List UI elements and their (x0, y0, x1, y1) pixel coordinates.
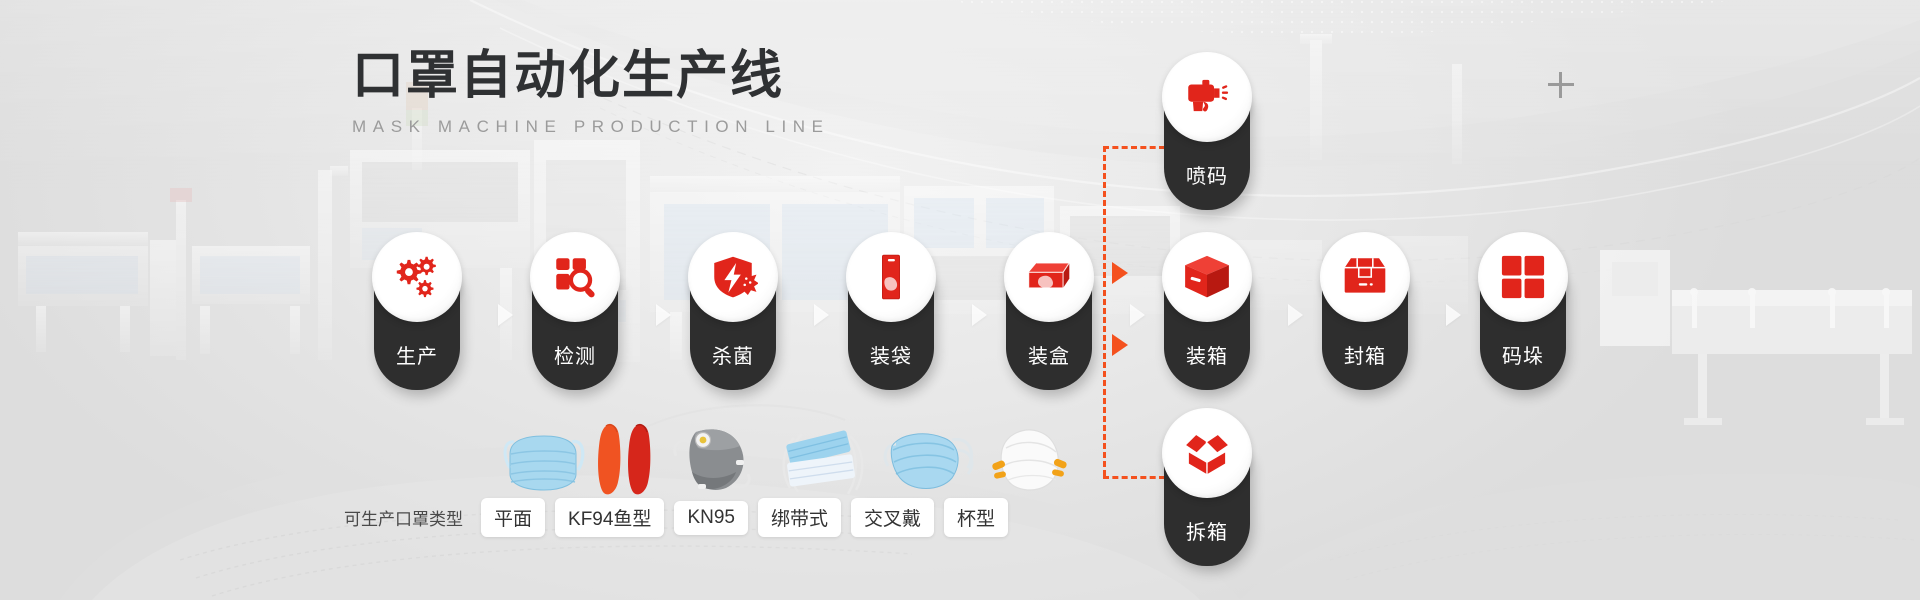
mask-thumb-cup (986, 420, 1072, 500)
mask-type-tag-kf94[interactable]: KF94鱼型 (555, 498, 664, 537)
shield-lightning-icon (708, 252, 758, 302)
node-icon-circle (530, 232, 620, 322)
branch-arrow-bottom (1112, 334, 1128, 356)
mask-type-tag-cup[interactable]: 杯型 (944, 498, 1008, 537)
mask-thumb-kf94 (592, 420, 662, 500)
node-label: 生产 (374, 340, 460, 369)
mask-type-tag-tie-on[interactable]: 绑带式 (758, 498, 841, 537)
node-label: 喷码 (1164, 160, 1250, 189)
mask-thumbnails-row (500, 418, 1030, 500)
node-icon-circle (1004, 232, 1094, 322)
flow-arrow-5 (1130, 304, 1145, 326)
mask-type-tag-flat[interactable]: 平面 (481, 498, 545, 537)
node-label: 装袋 (848, 340, 934, 369)
inspection-magnifier-icon (550, 252, 600, 302)
mask-type-tag-kn95[interactable]: KN95 (674, 501, 748, 535)
node-label: 检测 (532, 340, 618, 369)
branch-line-top-horizontal (1103, 146, 1165, 149)
page-title: 口罩自动化生产线 (352, 48, 830, 105)
banner-stage: 口罩自动化生产线 MASK MACHINE PRODUCTION LINE 生产 (0, 0, 1920, 600)
flow-arrow-4 (972, 304, 987, 326)
node-icon-circle (1320, 232, 1410, 322)
mask-thumb-flat (500, 420, 586, 500)
node-label: 封箱 (1322, 340, 1408, 369)
node-label: 杀菌 (690, 340, 776, 369)
node-icon-circle (372, 232, 462, 322)
open-box-icon (1182, 428, 1232, 478)
palletizing-grid-icon (1498, 252, 1548, 302)
header-block: 口罩自动化生产线 MASK MACHINE PRODUCTION LINE (352, 48, 830, 137)
flow-arrow-6 (1288, 304, 1303, 326)
node-label: 拆箱 (1164, 516, 1250, 545)
node-icon-circle (1162, 232, 1252, 322)
node-icon-circle (1478, 232, 1568, 322)
node-label: 码垛 (1480, 340, 1566, 369)
flow-arrow-1 (498, 304, 513, 326)
page-subtitle: MASK MACHINE PRODUCTION LINE (352, 117, 830, 137)
mask-type-tag-cross[interactable]: 交叉戴 (851, 498, 934, 537)
node-label: 装盒 (1006, 340, 1092, 369)
flow-arrow-7 (1446, 304, 1461, 326)
mask-thumb-kn95 (670, 420, 766, 500)
carton-box-icon (1024, 252, 1074, 302)
conveyor-silhouette (1600, 250, 1912, 425)
plus-crosshair-icon (1548, 72, 1574, 98)
gears-icon (392, 252, 442, 302)
node-label: 装箱 (1164, 340, 1250, 369)
mask-types-row: 可生产口罩类型 平面 KF94鱼型 KN95 绑带式 交叉戴 杯型 (344, 498, 1008, 537)
mask-thumb-cross-wear (882, 420, 978, 500)
mask-thumb-tie-on (774, 420, 874, 500)
branch-line-bottom-horizontal (1103, 476, 1165, 479)
node-icon-circle (846, 232, 936, 322)
bag-pouch-icon (866, 252, 916, 302)
branch-arrow-top (1112, 262, 1128, 284)
closed-carton-icon (1182, 252, 1232, 302)
node-icon-circle (1162, 52, 1252, 142)
node-icon-circle (1162, 408, 1252, 498)
branch-line-vertical (1103, 146, 1106, 476)
mask-types-label: 可生产口罩类型 (344, 505, 463, 530)
flow-arrow-3 (814, 304, 829, 326)
sealed-box-icon (1340, 252, 1390, 302)
node-icon-circle (688, 232, 778, 322)
spray-gun-icon (1182, 72, 1232, 122)
flow-arrow-2 (656, 304, 671, 326)
